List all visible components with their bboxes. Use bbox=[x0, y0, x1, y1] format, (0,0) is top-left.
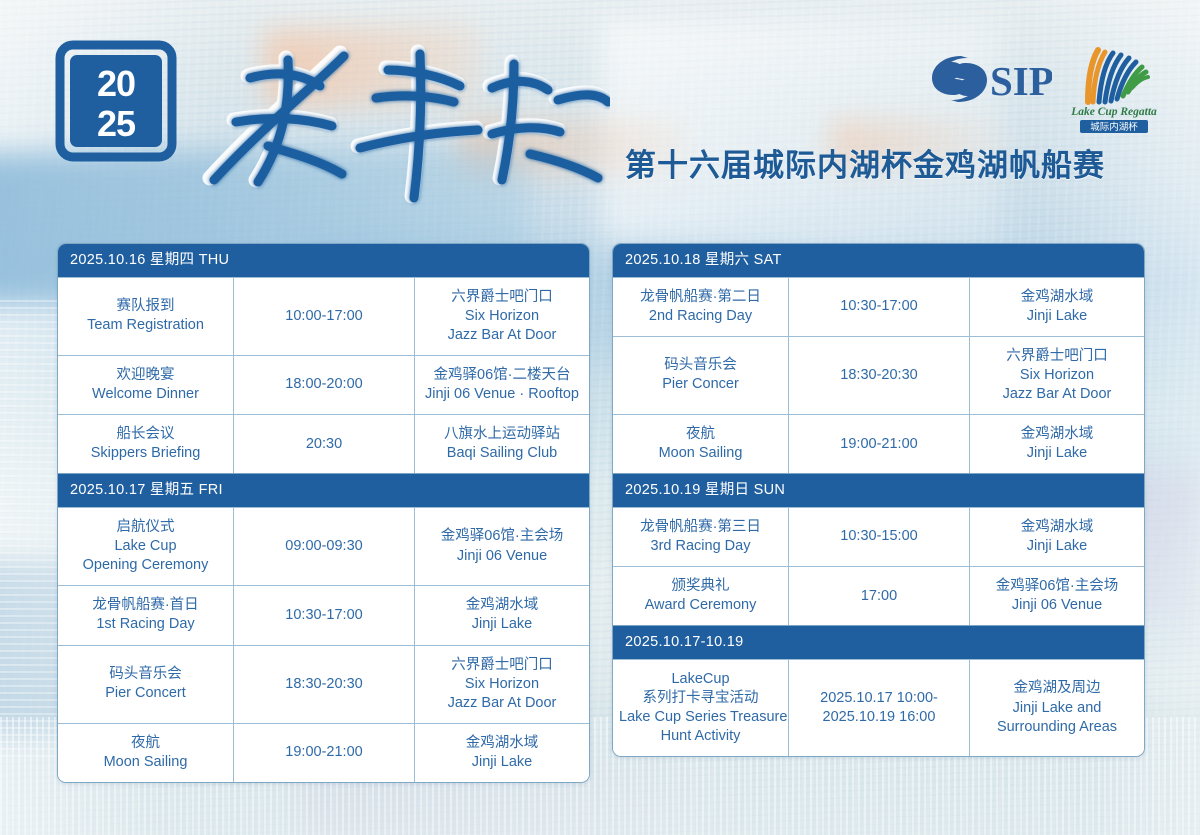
schedule-event-cell-line: 码头音乐会 bbox=[64, 665, 227, 684]
schedule-event-cell: 码头音乐会Pier Concer bbox=[613, 337, 789, 414]
schedule-venue-cell-line: Jinji 06 Venue bbox=[976, 596, 1138, 615]
schedule-time-cell: 2025.10.17 10:00-2025.10.19 16:00 bbox=[789, 660, 970, 757]
schedule-event-cell: 船长会议Skippers Briefing bbox=[58, 415, 234, 473]
schedule-event-cell-line: 夜航 bbox=[64, 734, 227, 753]
schedule-time-cell: 20:30 bbox=[234, 415, 415, 473]
schedule-venue-cell-line: Jinji Lake and bbox=[976, 699, 1138, 718]
schedule-time-cell-line: 18:30-20:30 bbox=[795, 366, 963, 385]
schedule-event-cell-line: Welcome Dinner bbox=[64, 385, 227, 404]
schedule-venue-cell-line: 金鸡驿06馆·主会场 bbox=[976, 577, 1138, 596]
schedule-day-card: 2025.10.17-10.19LakeCup系列打卡寻宝活动Lake Cup … bbox=[612, 626, 1145, 757]
schedule-time-cell-line: 18:30-20:30 bbox=[240, 675, 408, 694]
schedule-venue-cell-line: 金鸡驿06馆·主会场 bbox=[421, 527, 583, 546]
schedule-venue-cell-line: 六界爵士吧门口 bbox=[421, 288, 583, 307]
schedule-time-cell: 10:30-17:00 bbox=[234, 586, 415, 644]
sip-logo-text: SIP bbox=[990, 58, 1052, 104]
schedule-event-cell-line: Opening Ceremony bbox=[64, 556, 227, 575]
schedule-row: 颁奖典礼Award Ceremony17:00金鸡驿06馆·主会场Jinji 0… bbox=[613, 566, 1144, 625]
schedule-tables: 2025.10.16 星期四 THU赛队报到Team Registration1… bbox=[57, 243, 1145, 783]
poster-title-calligraphy: 赛事日程表 bbox=[190, 28, 610, 218]
schedule-event-cell-line: 启航仪式 bbox=[64, 518, 227, 537]
schedule-event-cell-line: 龙骨帆船赛·首日 bbox=[64, 596, 227, 615]
schedule-event-cell-line: Pier Concert bbox=[64, 684, 227, 703]
schedule-row: 启航仪式Lake CupOpening Ceremony09:00-09:30金… bbox=[58, 507, 589, 585]
schedule-venue-cell-line: 金鸡湖水域 bbox=[976, 288, 1138, 307]
year-stamp-icon: 20 25 2025 bbox=[55, 40, 177, 162]
schedule-venue-cell-line: Jinji Lake bbox=[976, 537, 1138, 556]
schedule-venue-cell-line: 金鸡驿06馆·二楼天台 bbox=[421, 366, 583, 385]
schedule-venue-cell-line: 八旗水上运动驿站 bbox=[421, 425, 583, 444]
schedule-event-cell-line: 1st Racing Day bbox=[64, 615, 227, 634]
schedule-event-cell-line: Award Ceremony bbox=[619, 596, 782, 615]
schedule-time-cell-line: 20:30 bbox=[240, 435, 408, 454]
schedule-row: 码头音乐会Pier Concert18:30-20:30六界爵士吧门口Six H… bbox=[58, 645, 589, 723]
schedule-event-cell: 码头音乐会Pier Concert bbox=[58, 646, 234, 723]
schedule-event-cell-line: Lake Cup Series Treasure bbox=[619, 708, 782, 727]
schedule-time-cell-line: 09:00-09:30 bbox=[240, 537, 408, 556]
schedule-venue-cell: 金鸡湖水域Jinji Lake bbox=[970, 415, 1144, 473]
schedule-row: 龙骨帆船赛·第三日3rd Racing Day10:30-15:00金鸡湖水域J… bbox=[613, 507, 1144, 566]
schedule-row: 码头音乐会Pier Concer18:30-20:30六界爵士吧门口Six Ho… bbox=[613, 336, 1144, 414]
schedule-event-cell-line: 3rd Racing Day bbox=[619, 537, 782, 556]
schedule-event-cell: 颁奖典礼Award Ceremony bbox=[613, 567, 789, 625]
schedule-venue-cell-line: Jinji Lake bbox=[976, 307, 1138, 326]
schedule-venue-cell: 六界爵士吧门口Six HorizonJazz Bar At Door bbox=[970, 337, 1144, 414]
schedule-time-cell-line: 17:00 bbox=[795, 587, 963, 606]
svg-text:25: 25 bbox=[97, 103, 136, 144]
schedule-venue-cell-line: 六界爵士吧门口 bbox=[976, 347, 1138, 366]
schedule-venue-cell: 八旗水上运动驿站Baqi Sailing Club bbox=[415, 415, 589, 473]
schedule-time-cell: 10:00-17:00 bbox=[234, 278, 415, 355]
schedule-event-cell-line: Team Registration bbox=[64, 316, 227, 335]
schedule-time-cell: 19:00-21:00 bbox=[234, 724, 415, 782]
schedule-time-cell-line: 2025.10.17 10:00- bbox=[795, 689, 963, 708]
schedule-event-cell: LakeCup系列打卡寻宝活动Lake Cup Series TreasureH… bbox=[613, 660, 789, 757]
schedule-row: 欢迎晚宴Welcome Dinner18:00-20:00金鸡驿06馆·二楼天台… bbox=[58, 355, 589, 414]
schedule-day-card: 2025.10.19 星期日 SUN龙骨帆船赛·第三日3rd Racing Da… bbox=[612, 474, 1145, 626]
schedule-venue-cell-line: Jazz Bar At Door bbox=[421, 326, 583, 345]
schedule-row: 赛队报到Team Registration10:00-17:00六界爵士吧门口S… bbox=[58, 277, 589, 355]
schedule-venue-cell-line: 金鸡湖水域 bbox=[976, 425, 1138, 444]
schedule-event-cell: 赛队报到Team Registration bbox=[58, 278, 234, 355]
schedule-event-cell-line: 码头音乐会 bbox=[619, 356, 782, 375]
schedule-venue-cell-line: Surrounding Areas bbox=[976, 718, 1138, 737]
schedule-venue-cell: 金鸡湖水域Jinji Lake bbox=[415, 586, 589, 644]
schedule-time-cell: 19:00-21:00 bbox=[789, 415, 970, 473]
poster-root: 20 25 2025 bbox=[0, 0, 1200, 835]
schedule-venue-cell-line: 金鸡湖水域 bbox=[421, 734, 583, 753]
schedule-venue-cell: 金鸡驿06馆·主会场Jinji 06 Venue bbox=[970, 567, 1144, 625]
schedule-column-right: 2025.10.18 星期六 SAT龙骨帆船赛·第二日2nd Racing Da… bbox=[612, 243, 1145, 757]
lake-cup-badge-text: 城际内湖杯 bbox=[1090, 121, 1138, 133]
schedule-venue-cell-line: Jinji Lake bbox=[976, 444, 1138, 463]
schedule-venue-cell-line: 六界爵士吧门口 bbox=[421, 656, 583, 675]
schedule-venue-cell-line: Jinji 06 Venue bbox=[421, 547, 583, 566]
schedule-time-cell-line: 10:30-17:00 bbox=[240, 606, 408, 625]
schedule-time-cell: 18:00-20:00 bbox=[234, 356, 415, 414]
schedule-event-cell-line: 夜航 bbox=[619, 425, 782, 444]
schedule-time-cell-line: 19:00-21:00 bbox=[795, 435, 963, 454]
schedule-event-cell: 启航仪式Lake CupOpening Ceremony bbox=[58, 508, 234, 585]
schedule-day-card: 2025.10.16 星期四 THU赛队报到Team Registration1… bbox=[57, 243, 590, 474]
schedule-event-cell-line: 欢迎晚宴 bbox=[64, 366, 227, 385]
schedule-event-cell-line: 系列打卡寻宝活动 bbox=[619, 689, 782, 708]
schedule-venue-cell: 金鸡湖水域Jinji Lake bbox=[970, 278, 1144, 336]
schedule-time-cell-line: 10:00-17:00 bbox=[240, 307, 408, 326]
schedule-venue-cell-line: Jazz Bar At Door bbox=[976, 385, 1138, 404]
schedule-venue-cell: 金鸡湖及周边Jinji Lake andSurrounding Areas bbox=[970, 660, 1144, 757]
schedule-event-cell: 龙骨帆船赛·第二日2nd Racing Day bbox=[613, 278, 789, 336]
schedule-time-cell-line: 2025.10.19 16:00 bbox=[795, 708, 963, 727]
schedule-event-cell: 夜航Moon Sailing bbox=[58, 724, 234, 782]
lake-cup-script-text: Lake Cup Regatta bbox=[1070, 106, 1157, 118]
schedule-time-cell: 18:30-20:30 bbox=[789, 337, 970, 414]
schedule-event-cell-line: Hunt Activity bbox=[619, 727, 782, 746]
schedule-venue-cell: 六界爵士吧门口Six HorizonJazz Bar At Door bbox=[415, 278, 589, 355]
schedule-event-cell: 龙骨帆船赛·首日1st Racing Day bbox=[58, 586, 234, 644]
schedule-time-cell-line: 18:00-20:00 bbox=[240, 375, 408, 394]
schedule-event-cell-line: 颁奖典礼 bbox=[619, 577, 782, 596]
schedule-venue-cell-line: Baqi Sailing Club bbox=[421, 444, 583, 463]
schedule-venue-cell-line: 金鸡湖水域 bbox=[976, 518, 1138, 537]
schedule-event-cell-line: 龙骨帆船赛·第三日 bbox=[619, 518, 782, 537]
schedule-venue-cell: 金鸡湖水域Jinji Lake bbox=[415, 724, 589, 782]
schedule-time-cell: 10:30-17:00 bbox=[789, 278, 970, 336]
schedule-day-card: 2025.10.18 星期六 SAT龙骨帆船赛·第二日2nd Racing Da… bbox=[612, 243, 1145, 474]
schedule-venue-cell: 金鸡湖水域Jinji Lake bbox=[970, 508, 1144, 566]
schedule-event-cell-line: 赛队报到 bbox=[64, 297, 227, 316]
schedule-date-header: 2025.10.17-10.19 bbox=[613, 626, 1144, 659]
schedule-date-header: 2025.10.19 星期日 SUN bbox=[613, 474, 1144, 507]
schedule-event-cell-line: Skippers Briefing bbox=[64, 444, 227, 463]
schedule-event-cell: 龙骨帆船赛·第三日3rd Racing Day bbox=[613, 508, 789, 566]
schedule-column-left: 2025.10.16 星期四 THU赛队报到Team Registration1… bbox=[57, 243, 590, 783]
schedule-row: LakeCup系列打卡寻宝活动Lake Cup Series TreasureH… bbox=[613, 659, 1144, 757]
schedule-venue-cell-line: Six Horizon bbox=[976, 366, 1138, 385]
schedule-event-cell-line: Lake Cup bbox=[64, 537, 227, 556]
schedule-venue-cell-line: Jinji 06 Venue · Rooftop bbox=[421, 385, 583, 404]
schedule-time-cell-line: 10:30-17:00 bbox=[795, 297, 963, 316]
schedule-event-cell-line: Pier Concer bbox=[619, 375, 782, 394]
schedule-event-cell-line: 船长会议 bbox=[64, 425, 227, 444]
schedule-row: 龙骨帆船赛·第二日2nd Racing Day10:30-17:00金鸡湖水域J… bbox=[613, 277, 1144, 336]
schedule-day-card: 2025.10.17 星期五 FRI启航仪式Lake CupOpening Ce… bbox=[57, 474, 590, 783]
schedule-event-cell-line: 龙骨帆船赛·第二日 bbox=[619, 288, 782, 307]
schedule-event-cell-line: Moon Sailing bbox=[64, 753, 227, 772]
schedule-date-header: 2025.10.17 星期五 FRI bbox=[58, 474, 589, 507]
schedule-date-header: 2025.10.18 星期六 SAT bbox=[613, 244, 1144, 277]
schedule-venue-cell-line: Jinji Lake bbox=[421, 615, 583, 634]
lake-cup-regatta-logo: Lake Cup Regatta 城际内湖杯 bbox=[1068, 42, 1160, 134]
poster-subtitle: 第十六届城际内湖杯金鸡湖帆船赛 bbox=[625, 140, 1105, 185]
schedule-row: 夜航Moon Sailing19:00-21:00金鸡湖水域Jinji Lake bbox=[58, 723, 589, 782]
svg-text:20: 20 bbox=[97, 63, 135, 104]
schedule-event-cell-line: 2nd Racing Day bbox=[619, 307, 782, 326]
schedule-venue-cell-line: Six Horizon bbox=[421, 307, 583, 326]
schedule-event-cell: 夜航Moon Sailing bbox=[613, 415, 789, 473]
schedule-venue-cell-line: Jazz Bar At Door bbox=[421, 694, 583, 713]
schedule-venue-cell-line: Jinji Lake bbox=[421, 753, 583, 772]
schedule-time-cell-line: 10:30-15:00 bbox=[795, 527, 963, 546]
schedule-time-cell-line: 19:00-21:00 bbox=[240, 743, 408, 762]
schedule-venue-cell-line: Six Horizon bbox=[421, 675, 583, 694]
schedule-venue-cell-line: 金鸡湖水域 bbox=[421, 596, 583, 615]
schedule-venue-cell: 金鸡驿06馆·二楼天台Jinji 06 Venue · Rooftop bbox=[415, 356, 589, 414]
schedule-event-cell: 欢迎晚宴Welcome Dinner bbox=[58, 356, 234, 414]
poster-header: 20 25 2025 bbox=[0, 0, 1200, 230]
schedule-time-cell: 10:30-15:00 bbox=[789, 508, 970, 566]
schedule-time-cell: 17:00 bbox=[789, 567, 970, 625]
schedule-event-cell-line: LakeCup bbox=[619, 670, 782, 689]
schedule-time-cell: 09:00-09:30 bbox=[234, 508, 415, 585]
schedule-event-cell-line: Moon Sailing bbox=[619, 444, 782, 463]
schedule-time-cell: 18:30-20:30 bbox=[234, 646, 415, 723]
schedule-venue-cell: 金鸡驿06馆·主会场Jinji 06 Venue bbox=[415, 508, 589, 585]
schedule-date-header: 2025.10.16 星期四 THU bbox=[58, 244, 589, 277]
schedule-row: 船长会议Skippers Briefing20:30八旗水上运动驿站Baqi S… bbox=[58, 414, 589, 473]
sip-logo: SIP bbox=[928, 48, 1052, 110]
schedule-venue-cell: 六界爵士吧门口Six HorizonJazz Bar At Door bbox=[415, 646, 589, 723]
schedule-venue-cell-line: 金鸡湖及周边 bbox=[976, 679, 1138, 698]
schedule-row: 龙骨帆船赛·首日1st Racing Day10:30-17:00金鸡湖水域Ji… bbox=[58, 585, 589, 644]
schedule-row: 夜航Moon Sailing19:00-21:00金鸡湖水域Jinji Lake bbox=[613, 414, 1144, 473]
